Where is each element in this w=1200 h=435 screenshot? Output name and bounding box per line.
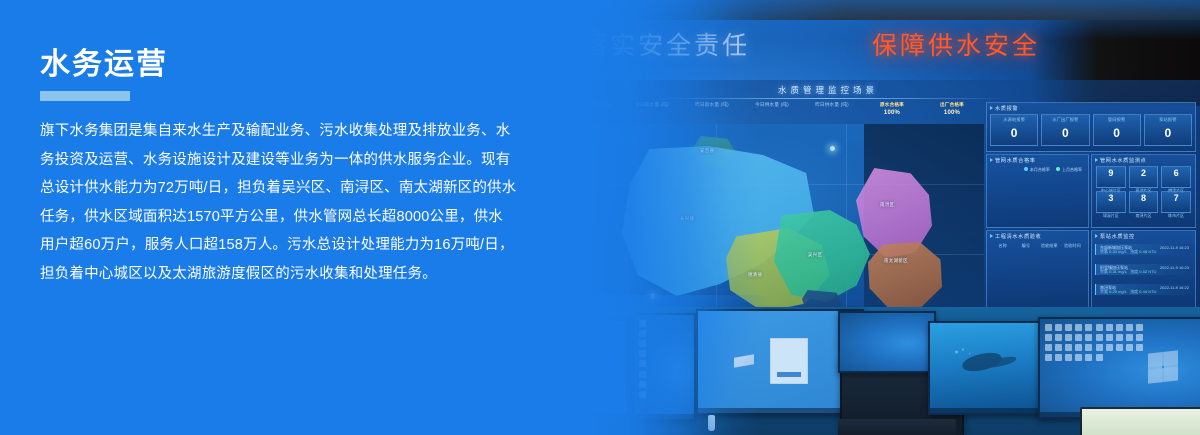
map-label-nanxun: 南浔区 (880, 202, 894, 208)
col-name: 名称 (991, 243, 1014, 249)
desktop-icon[interactable] (1065, 324, 1072, 331)
desktop-icon[interactable] (639, 371, 646, 378)
alarm-value: 0 (1113, 126, 1120, 140)
desktop-icon[interactable] (1045, 354, 1052, 361)
alarm-value: 0 (1062, 126, 1069, 140)
desktop-icon[interactable] (1055, 344, 1062, 351)
page-title: 水务运营 (40, 48, 570, 81)
legend-label: 本月合格率 (1030, 167, 1050, 172)
point-label: 南浔片区 (1135, 213, 1151, 218)
map-marker-dot[interactable] (650, 294, 655, 299)
kpi-label: 昨日供水量 (吨) (815, 102, 849, 107)
desktop-icon[interactable] (1075, 354, 1082, 361)
monitoring-point-cell[interactable]: 2 菱湖片区 (1129, 166, 1159, 188)
monitoring-point-cell[interactable]: 7 练市片区 (1161, 191, 1191, 213)
desktop-icon[interactable] (639, 391, 646, 398)
laptop[interactable] (1080, 407, 1200, 435)
monitor-screen (1040, 319, 1200, 417)
kpi-label: 本年取水量 (万吨) (573, 102, 612, 107)
desktop-icon[interactable] (1075, 344, 1082, 351)
desktop-icon[interactable] (1055, 334, 1062, 341)
desktop-icon[interactable] (1116, 344, 1123, 351)
alarm-label: 管网报警 (1094, 117, 1140, 123)
legend-label: 上月合格率 (1062, 167, 1082, 172)
desktop-icon[interactable] (1126, 334, 1133, 341)
kpi-value: 100% (862, 109, 922, 118)
slogan-left-text: 落实安全责任 (582, 26, 750, 62)
operator-desk-area (520, 307, 1200, 435)
title-underline-bar (40, 91, 130, 101)
monitor-small-upper[interactable] (838, 311, 936, 373)
station-metrics: 余氯 0.29 mg/L 浊度 0.44 NTU (1100, 289, 1156, 295)
station-log-list: 东部新城加压泵站 2022-11-9 16:23 余氯 0.34 mg/L 浊度… (1092, 242, 1195, 296)
monitor-screen (930, 323, 1052, 413)
monitoring-point-cell[interactable]: 8 南浔片区 (1129, 191, 1159, 213)
description-line: 担负着中心城区以及太湖旅游度假区的污水收集和处理任务。 (40, 260, 570, 289)
region-map: 长兴县 安吉县 德清县 吴兴区 南浔区 南太湖新区 (584, 124, 984, 312)
desktop-icon[interactable] (1116, 324, 1123, 331)
map-label-wuxing: 吴兴区 (808, 252, 822, 258)
kpi-label: 今日取水量 (吨) (635, 102, 669, 107)
panel-header: 工程清水水质验收 (987, 231, 1088, 240)
dialog-window[interactable] (770, 338, 808, 384)
dashboard-title-rule (652, 98, 1004, 99)
station-metrics: 余氯 0.31 mg/L 浊度 0.52 NTU (1100, 269, 1156, 275)
desktop-icon[interactable] (639, 381, 646, 388)
desktop-icon[interactable] (1116, 334, 1123, 341)
panel-header: 水质报警 (987, 103, 1195, 112)
description-line: 任务，供水区域面积达1570平方公里，供水管网总长超8000公里，供水 (40, 203, 570, 232)
legend-item-last-month: 上月合格率 (1056, 167, 1082, 172)
desktop-icon[interactable] (639, 340, 646, 347)
control-room-photo: 落实安全责任 保障供水安全 水质管理监控场景 本年取水量 (万吨) 今日取水量 … (520, 0, 1200, 435)
kpi-label: 昨日取水量 (吨) (695, 102, 729, 107)
monitoring-point-cell[interactable]: 9 中心城片区 (1096, 166, 1126, 188)
desktop-icon[interactable] (1096, 334, 1103, 341)
desktop-icon[interactable] (1085, 324, 1092, 331)
panel-header: 泵站水质监控 (1092, 231, 1195, 240)
monitor-windows-desktop[interactable] (1038, 317, 1200, 419)
flag-graphic (734, 354, 754, 368)
monitor-desktop-icons[interactable] (632, 313, 696, 421)
desktop-icon[interactable] (639, 320, 646, 327)
alarm-value: 0 (1011, 126, 1018, 140)
desktop-icon[interactable] (1065, 344, 1072, 351)
desktop-icon[interactable] (1085, 334, 1092, 341)
station-time: 2022-11-9 16:23 (1160, 265, 1189, 270)
desktop-icon[interactable] (1106, 324, 1113, 331)
alarm-label: 水厂出厂报警 (1042, 117, 1088, 123)
description-line: 旗下水务集团是集自来水生产及输配业务、污水收集处理及排放业务、水 (40, 117, 570, 146)
desktop-icon[interactable] (1055, 354, 1062, 361)
station-metrics: 余氯 0.34 mg/L 浊度 0.48 NTU (1100, 249, 1156, 255)
alarm-box[interactable]: 管网报警 0 (1093, 114, 1141, 146)
panel-water-quality-alarm: 水质报警 水源地报警 0 水厂出厂报警 0 管网报警 (986, 102, 1196, 152)
monitor-screen (634, 315, 694, 419)
water-operations-banner: 落实安全责任 保障供水安全 水质管理监控场景 本年取水量 (万吨) 今日取水量 … (0, 0, 1200, 435)
point-label: 埭溪片区 (1103, 213, 1119, 218)
alarm-value: 0 (1165, 126, 1172, 140)
dashboard-title: 水质管理监控场景 (678, 84, 978, 96)
chart-legend: 本月合格率 上月合格率 (1019, 167, 1082, 173)
desktop-icon[interactable] (1136, 334, 1143, 341)
windows-logo-icon (1148, 351, 1178, 384)
desktop-icon[interactable] (1065, 354, 1072, 361)
text-content-block: 水务运营 旗下水务集团是集自来水生产及输配业务、污水收集处理及排放业务、水 务投… (40, 48, 570, 288)
station-log-row[interactable]: 东部新城加压泵站 2022-11-9 16:23 余氯 0.34 mg/L 浊度… (1095, 244, 1192, 255)
dashboard-right-panels: 水质报警 水源地报警 0 水厂出厂报警 0 管网报警 (986, 102, 1194, 308)
desktop-icon[interactable] (1085, 344, 1092, 351)
kpi-label: 出厂合格率 (940, 102, 964, 107)
taskbar[interactable] (930, 408, 1052, 413)
table-header-row: 名称 编号 验收结果 验收时间 (991, 243, 1084, 249)
desktop-icon[interactable] (1096, 324, 1103, 331)
map-label-changxing: 长兴县 (680, 216, 694, 222)
desktop-icon[interactable] (1096, 354, 1103, 361)
panel-network-pass-rate: 管网水质合格率 本月合格率 上月合格率 (986, 154, 1089, 228)
alarm-box-grid: 水源地报警 0 水厂出厂报警 0 管网报警 0 (990, 114, 1192, 146)
col-result: 验收结果 (1038, 243, 1061, 249)
monitor-screen (840, 313, 934, 371)
alarm-box[interactable]: 水厂出厂报警 0 (1041, 114, 1089, 146)
desktop-icon-grid (637, 318, 649, 400)
legend-item-this-month: 本月合格率 (1024, 167, 1050, 172)
desktop-icon-grid (1043, 322, 1151, 363)
desktop-icon[interactable] (1045, 334, 1052, 341)
desktop-icon[interactable] (1055, 324, 1062, 331)
map-label-nantaihu: 南太湖新区 (884, 258, 908, 264)
description-line: 用户超60万户，服务人口超158万人。污水总设计处理能力为16万吨/日， (40, 231, 570, 260)
point-value: 2 (1130, 168, 1158, 179)
monitoring-point-cell[interactable]: 6 織里片区 (1161, 166, 1191, 188)
taskbar[interactable] (698, 408, 862, 413)
kpi-label: 今日供水量 (吨) (755, 102, 789, 107)
desktop-icon[interactable] (1096, 344, 1103, 351)
alarm-box[interactable]: 泵站报警 0 (1144, 114, 1192, 146)
point-label: 练市片区 (1168, 213, 1184, 218)
monitor-diver-wallpaper[interactable] (928, 321, 1054, 415)
panel-header: 管网水质合格率 (987, 155, 1088, 164)
panel-clean-water-acceptance: 工程清水水质验收 名称 编号 验收结果 验收时间 (986, 230, 1089, 310)
description-line: 总设计供水能力为72万吨/日，担负着吴兴区、南浔区、南太湖新区的供水 (40, 174, 570, 203)
desktop-icon[interactable] (1045, 324, 1052, 331)
desktop-icon[interactable] (1106, 344, 1113, 351)
desktop-icon[interactable] (1075, 324, 1082, 331)
desktop-icon[interactable] (639, 360, 646, 367)
desktop-icon[interactable] (1126, 344, 1133, 351)
alarm-label: 泵站报警 (1145, 117, 1191, 123)
map-marker-dot[interactable] (830, 146, 835, 151)
map-label-deqing: 德清县 (748, 272, 762, 278)
desktop-icon[interactable] (1136, 324, 1143, 331)
monitor-left-blank[interactable] (520, 319, 628, 415)
desktop-icon[interactable] (639, 350, 646, 357)
laptop-base[interactable] (838, 419, 956, 435)
col-time: 验收时间 (1061, 243, 1084, 249)
panel-pump-station-monitoring: 泵站水质监控 东部新城加压泵站 2022-11-9 16:23 余氯 0.34 … (1091, 230, 1196, 310)
desktop-icon[interactable] (1126, 324, 1133, 331)
laptop-screen (1082, 409, 1200, 435)
point-value: 9 (1097, 168, 1125, 179)
station-log-row[interactable]: 南浔泵站 2022-11-9 16:22 余氯 0.29 mg/L 浊度 0.4… (1095, 284, 1192, 295)
station-log-row[interactable]: 织里镇加压泵站 2022-11-9 16:23 余氯 0.31 mg/L 浊度 … (1095, 264, 1192, 275)
point-value: 8 (1130, 193, 1158, 204)
map-label-anji: 安吉县 (700, 148, 714, 154)
desktop-icon[interactable] (1065, 334, 1072, 341)
alarm-label: 水源地报警 (991, 117, 1037, 123)
desktop-icon[interactable] (639, 330, 646, 337)
alarm-box[interactable]: 水源地报警 0 (990, 114, 1038, 146)
station-time: 2022-11-9 16:22 (1160, 285, 1189, 290)
desktop-icon[interactable] (1136, 344, 1143, 351)
kpi-value: 100% (922, 109, 982, 118)
point-value: 3 (1097, 193, 1125, 204)
kpi-label: 原水合格率 (880, 102, 904, 107)
desktop-icon[interactable] (1045, 344, 1052, 351)
col-number: 编号 (1014, 243, 1037, 249)
monitor-screen (520, 321, 626, 413)
desktop-icon[interactable] (1075, 334, 1082, 341)
taskbar[interactable] (634, 414, 694, 419)
water-bottle (708, 415, 715, 431)
description-line: 务投资及运营、水务设施设计及建设等业务为一体的供水服务企业。现有 (40, 146, 570, 175)
monitoring-point-cell[interactable]: 3 埭溪片区 (1096, 191, 1126, 213)
slogan-row: 落实安全责任 保障供水安全 (520, 22, 1200, 78)
description-paragraph: 旗下水务集团是集自来水生产及输配业务、污水收集处理及排放业务、水 务投资及运营、… (40, 117, 570, 288)
point-value: 7 (1162, 193, 1190, 204)
desktop-icon[interactable] (1085, 354, 1092, 361)
panel-header: 管网水水质监测点 (1092, 155, 1195, 164)
desktop-icon[interactable] (1106, 334, 1113, 341)
station-time: 2022-11-9 16:23 (1160, 245, 1189, 250)
monitoring-point-grid: 9 中心城片区 2 菱湖片区 6 織里片区 (1096, 166, 1191, 213)
point-value: 6 (1162, 168, 1190, 179)
panel-monitoring-points: 管网水水质监测点 9 中心城片区 2 菱湖片区 6 (1091, 154, 1196, 228)
slogan-right-text: 保障供水安全 (872, 26, 1040, 62)
dashboard: 水质管理监控场景 本年取水量 (万吨) 今日取水量 (吨) 昨日取水量 (吨) (558, 80, 1200, 312)
